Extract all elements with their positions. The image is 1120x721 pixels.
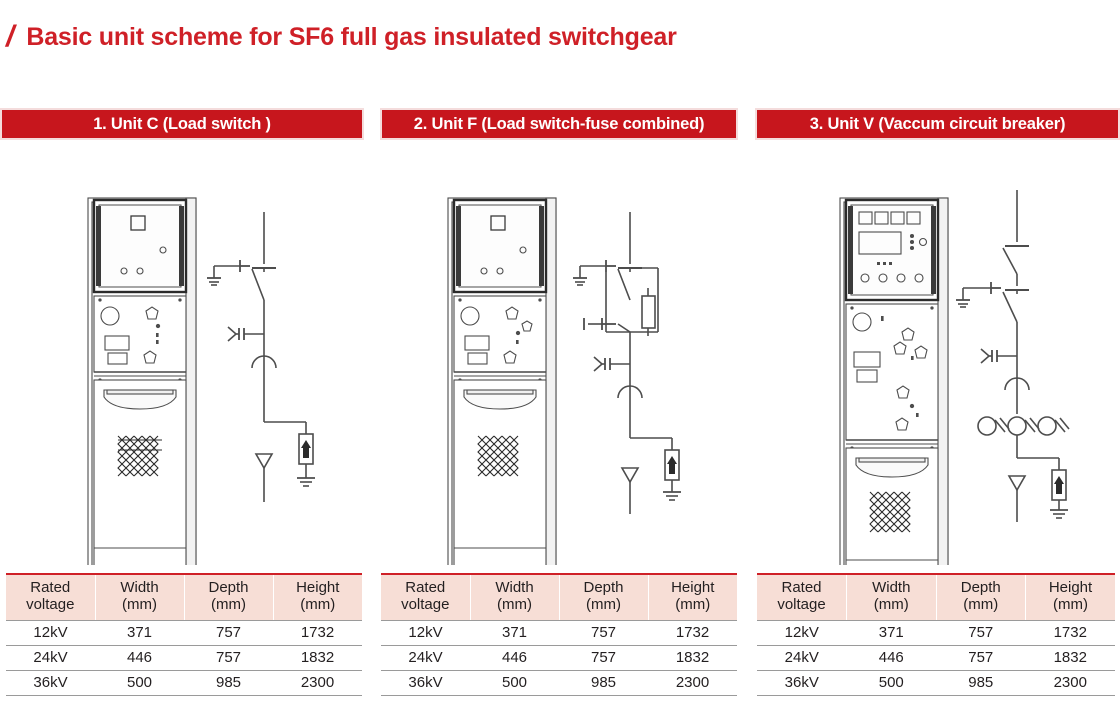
cell-height: 1732: [273, 620, 362, 645]
title-slash-accent: /: [6, 22, 14, 52]
unit-v-single-line-diagram: [945, 190, 1095, 530]
cell-rated-voltage: 24kV: [381, 645, 470, 670]
cell-height: 2300: [648, 670, 737, 695]
table-row: 24kV 446 757 1832: [6, 645, 362, 670]
unit-v-dimension-table: Rated voltage Width (mm) Depth (mm) Heig…: [757, 573, 1115, 696]
unit-f-drawing-area: [380, 140, 738, 565]
cell-width: 371: [847, 620, 937, 645]
cell-width: 446: [470, 645, 559, 670]
table-row: 36kV 500 985 2300: [6, 670, 362, 695]
column-header-height: Height (mm): [648, 574, 737, 620]
column-header-width: Width (mm): [95, 574, 184, 620]
column-header-depth: Depth (mm): [184, 574, 273, 620]
cell-depth: 757: [184, 620, 273, 645]
cell-rated-voltage: 12kV: [757, 620, 847, 645]
unit-c-dimension-table: Rated voltage Width (mm) Depth (mm) Heig…: [6, 573, 362, 696]
cell-rated-voltage: 36kV: [381, 670, 470, 695]
cell-depth: 757: [936, 645, 1026, 670]
cell-depth: 985: [184, 670, 273, 695]
cell-width: 371: [95, 620, 184, 645]
cell-depth: 985: [559, 670, 648, 695]
cell-height: 1732: [648, 620, 737, 645]
table-row: 12kV 371 757 1732: [381, 620, 737, 645]
column-header-rated-voltage: Rated voltage: [6, 574, 95, 620]
unit-f-dimension-table: Rated voltage Width (mm) Depth (mm) Heig…: [381, 573, 737, 696]
table-row: 36kV 500 985 2300: [757, 670, 1115, 695]
table-header-row: Rated voltage Width (mm) Depth (mm) Heig…: [381, 574, 737, 620]
column-header-height: Height (mm): [273, 574, 362, 620]
unit-c-drawing-area: [0, 140, 364, 565]
unit-column-v: 3. Unit V (Vaccum circuit breaker): [755, 108, 1120, 565]
cell-rated-voltage: 12kV: [6, 620, 95, 645]
cell-depth: 757: [559, 620, 648, 645]
table-row: 36kV 500 985 2300: [381, 670, 737, 695]
cell-width: 500: [847, 670, 937, 695]
cell-width: 500: [95, 670, 184, 695]
unit-column-f: 2. Unit F (Load switch-fuse combined): [380, 108, 738, 565]
cell-depth: 757: [936, 620, 1026, 645]
cell-width: 446: [95, 645, 184, 670]
cell-rated-voltage: 24kV: [6, 645, 95, 670]
column-header-width: Width (mm): [470, 574, 559, 620]
cell-rated-voltage: 36kV: [757, 670, 847, 695]
unit-v-drawing-area: [755, 140, 1120, 565]
unit-f-header-bar: 2. Unit F (Load switch-fuse combined): [380, 108, 738, 140]
table-header-row: Rated voltage Width (mm) Depth (mm) Heig…: [757, 574, 1115, 620]
cell-height: 2300: [1026, 670, 1116, 695]
cell-width: 500: [470, 670, 559, 695]
unit-v-header-bar: 3. Unit V (Vaccum circuit breaker): [755, 108, 1120, 140]
column-header-depth: Depth (mm): [559, 574, 648, 620]
cell-depth: 757: [559, 645, 648, 670]
table-header-row: Rated voltage Width (mm) Depth (mm) Heig…: [6, 574, 362, 620]
unit-column-c: 1. Unit C (Load switch ): [0, 108, 364, 565]
cell-width: 446: [847, 645, 937, 670]
table-row: 24kV 446 757 1832: [757, 645, 1115, 670]
cell-depth: 757: [184, 645, 273, 670]
unit-f-single-line-diagram: [558, 212, 698, 522]
column-header-height: Height (mm): [1026, 574, 1116, 620]
page-title: / Basic unit scheme for SF6 full gas ins…: [0, 22, 677, 52]
table-row: 12kV 371 757 1732: [757, 620, 1115, 645]
cell-height: 2300: [273, 670, 362, 695]
cell-rated-voltage: 24kV: [757, 645, 847, 670]
table-row: 12kV 371 757 1732: [6, 620, 362, 645]
cell-depth: 985: [936, 670, 1026, 695]
cell-height: 1832: [648, 645, 737, 670]
unit-c-single-line-diagram: [196, 212, 326, 512]
unit-c-header-bar: 1. Unit C (Load switch ): [0, 108, 364, 140]
column-header-rated-voltage: Rated voltage: [757, 574, 847, 620]
cell-rated-voltage: 12kV: [381, 620, 470, 645]
cell-height: 1832: [1026, 645, 1116, 670]
column-header-width: Width (mm): [847, 574, 937, 620]
cell-height: 1832: [273, 645, 362, 670]
cell-rated-voltage: 36kV: [6, 670, 95, 695]
cell-height: 1732: [1026, 620, 1116, 645]
page-title-text: Basic unit scheme for SF6 full gas insul…: [26, 25, 676, 50]
column-header-depth: Depth (mm): [936, 574, 1026, 620]
cell-width: 371: [470, 620, 559, 645]
column-header-rated-voltage: Rated voltage: [381, 574, 470, 620]
table-row: 24kV 446 757 1832: [381, 645, 737, 670]
datasheet-page: / Basic unit scheme for SF6 full gas ins…: [0, 0, 1120, 721]
